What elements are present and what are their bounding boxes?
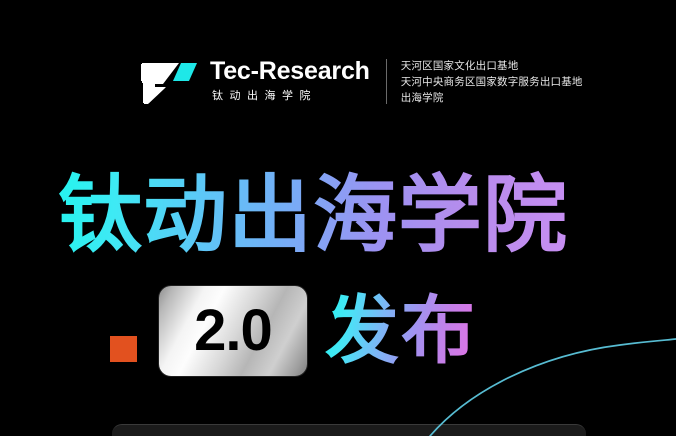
brand-text-block: Tec-Research 钛动出海学院 <box>210 57 370 105</box>
bottom-panel <box>112 424 586 436</box>
version-number: 2.0 <box>194 302 272 360</box>
page-title: 钛动出海学院 <box>58 167 568 263</box>
version-badge: 2.0 <box>159 286 307 376</box>
subtitle-line-1: 天河区国家文化出口基地 <box>401 58 583 74</box>
tec-research-logo-mark-icon <box>139 57 199 105</box>
orange-square-marker <box>110 336 137 362</box>
version-release-row: 2.0 发布 <box>110 286 477 376</box>
brand-header: Tec-Research 钛动出海学院 天河区国家文化出口基地 天河中央商务区国… <box>139 57 583 106</box>
poster-root: Tec-Research 钛动出海学院 天河区国家文化出口基地 天河中央商务区国… <box>0 0 676 436</box>
header-subtitle-group: 天河区国家文化出口基地 天河中央商务区国家数字服务出口基地 出海学院 <box>401 57 583 106</box>
release-label: 发布 <box>325 287 477 375</box>
brand-name-chinese: 钛动出海学院 <box>210 87 370 105</box>
brand-name: Tec-Research <box>210 58 370 85</box>
subtitle-line-3: 出海学院 <box>401 90 583 106</box>
subtitle-line-2: 天河中央商务区国家数字服务出口基地 <box>401 74 583 90</box>
header-divider <box>386 59 387 104</box>
